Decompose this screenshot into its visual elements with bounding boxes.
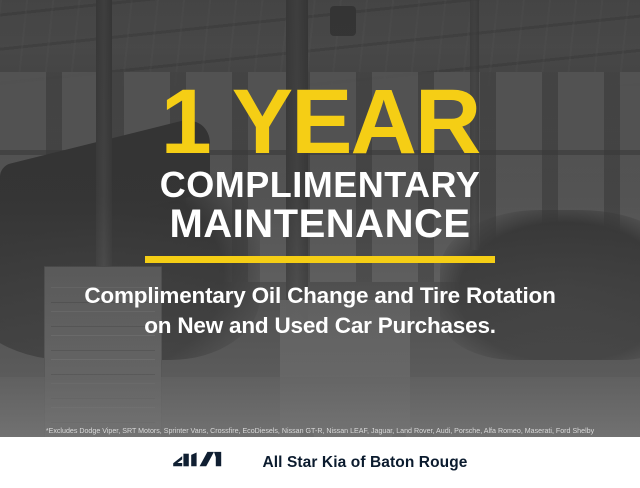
offer-description: Complimentary Oil Change and Tire Rotati… — [84, 281, 555, 340]
yellow-divider-rule — [145, 256, 495, 263]
banner-content: 1 YEAR COMPLIMENTARY MAINTENANCE Complim… — [0, 0, 640, 437]
promotional-banner: 1 YEAR COMPLIMENTARY MAINTENANCE Complim… — [0, 0, 640, 488]
headline-year: 1 YEAR — [161, 82, 480, 163]
offer-line-2: on New and Used Car Purchases. — [84, 311, 555, 341]
offer-line-1: Complimentary Oil Change and Tire Rotati… — [84, 281, 555, 311]
kia-logo-icon — [172, 449, 244, 476]
headline-maintenance: MAINTENANCE — [169, 204, 470, 245]
dealer-name: All Star Kia of Baton Rouge — [262, 454, 467, 472]
footer-bar: All Star Kia of Baton Rouge — [0, 437, 640, 488]
headline-complimentary: COMPLIMENTARY — [160, 167, 480, 204]
disclaimer-line-1: *Excludes Dodge Viper, SRT Motors, Sprin… — [10, 426, 630, 437]
